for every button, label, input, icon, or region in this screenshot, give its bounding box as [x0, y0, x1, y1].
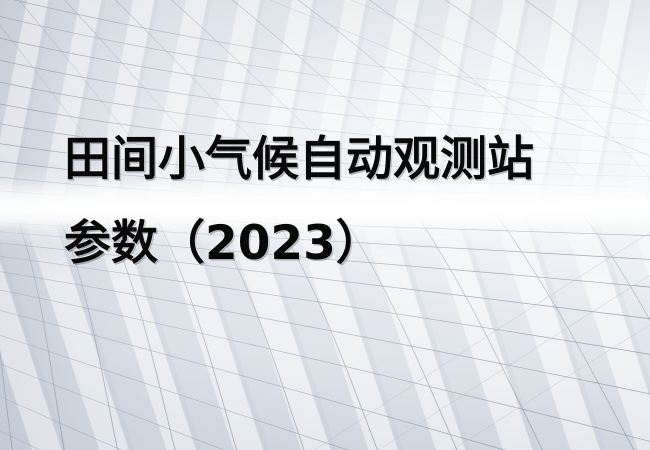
title-slide: 田间小气候自动观测站 参数（2023） [0, 0, 650, 450]
title-block: 田间小气候自动观测站 参数（2023） [64, 118, 624, 286]
title-line-1: 田间小气候自动观测站 [64, 118, 624, 202]
title-line-2: 参数（2023） [64, 202, 624, 286]
